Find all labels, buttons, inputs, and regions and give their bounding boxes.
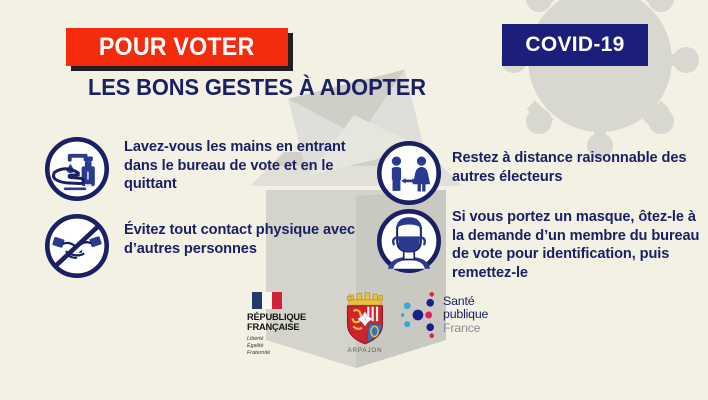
handwash-icon: [44, 136, 110, 202]
advice-text-handwash: Lavez-vous les mains en entrant dans le …: [124, 136, 362, 194]
advice-item-no-contact: Évitez tout contact physique avec d’autr…: [44, 213, 364, 279]
poster-canvas: POUR VOTER LES BONS GESTES À ADOPTER COV…: [0, 0, 708, 400]
spf-molecule-icon: [401, 292, 441, 338]
logo-republique-francaise: RÉPUBLIQUE FRANÇAISE Liberté Égalité Fra…: [247, 292, 331, 358]
title-banner: POUR VOTER: [66, 28, 288, 66]
rf-line2: FRANÇAISE: [247, 322, 331, 332]
covid-badge: COVID-19: [502, 24, 648, 66]
advice-text-no-contact: Évitez tout contact physique avec d’autr…: [124, 213, 362, 258]
arpajon-coat-of-arms-icon: [343, 292, 387, 346]
logo-row: RÉPUBLIQUE FRANÇAISE Liberté Égalité Fra…: [247, 292, 497, 360]
advice-item-distance: Restez à distance raisonnable des autres…: [376, 140, 706, 206]
covid-badge-label: COVID-19: [525, 33, 624, 57]
rf-motto-egalite: Égalité: [247, 343, 331, 350]
advice-item-handwash: Lavez-vous les mains en entrant dans le …: [44, 136, 364, 202]
social-distancing-icon: [376, 140, 442, 206]
rf-line1: RÉPUBLIQUE: [247, 312, 331, 322]
logo-arpajon: ARPAJON: [335, 292, 395, 354]
rf-motto-fraternite: Fraternité: [247, 350, 331, 357]
title-banner-label: POUR VOTER: [99, 35, 255, 60]
spf-line2: publique: [443, 308, 488, 321]
advice-text-distance: Restez à distance raisonnable des autres…: [452, 140, 706, 186]
arpajon-label: ARPAJON: [335, 347, 395, 354]
title-banner-fill: POUR VOTER: [66, 28, 288, 66]
poster-header: POUR VOTER LES BONS GESTES À ADOPTER COV…: [0, 0, 708, 115]
advice-item-mask: Si vous portez un masque, ôtez-le à la d…: [376, 208, 706, 282]
poster-subtitle: LES BONS GESTES À ADOPTER: [88, 74, 426, 101]
rf-motto-liberte: Liberté: [247, 336, 331, 343]
french-flag-icon: [252, 292, 282, 309]
spf-line3: France: [443, 322, 488, 335]
spf-line1: Santé: [443, 295, 488, 308]
face-mask-icon: [376, 208, 442, 274]
no-handshake-icon: [44, 213, 110, 279]
advice-text-mask: Si vous portez un masque, ôtez-le à la d…: [452, 208, 706, 282]
logo-sante-publique-france: Santé publique France: [401, 292, 505, 338]
